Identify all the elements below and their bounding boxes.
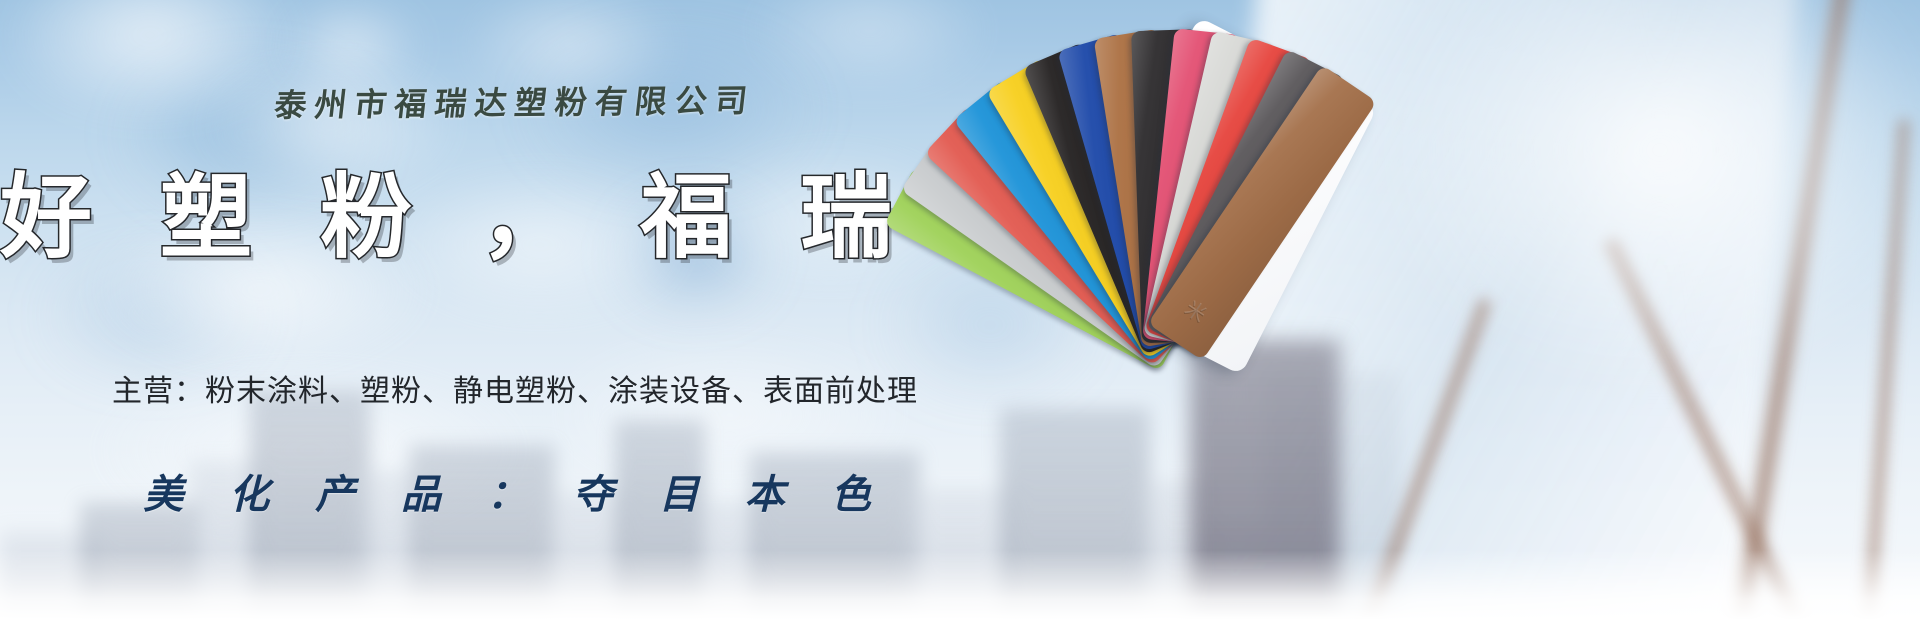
product-subtitle: 主营：粉末涂料、塑粉、静电塑粉、涂装设备、表面前处理 [0,366,1030,410]
light-haze [1280,0,1920,460]
swatch-embossed-mark: 米 [1180,292,1213,327]
headline-slogan: 好 塑 粉 ， 福 瑞 达 [0,160,1030,275]
tagline-slogan: 美 化 产 品 ： 夺 目 本 色 [0,462,1030,520]
promotional-banner: 泰州市福瑞达塑粉有限公司 好 塑 粉 ， 福 瑞 达 主营：粉末涂料、塑粉、静电… [0,0,1920,620]
banner-text-block: 泰州市福瑞达塑粉有限公司 好 塑 粉 ， 福 瑞 达 主营：粉末涂料、塑粉、静电… [0,0,1000,620]
company-name: 泰州市福瑞达塑粉有限公司 [0,73,1033,130]
